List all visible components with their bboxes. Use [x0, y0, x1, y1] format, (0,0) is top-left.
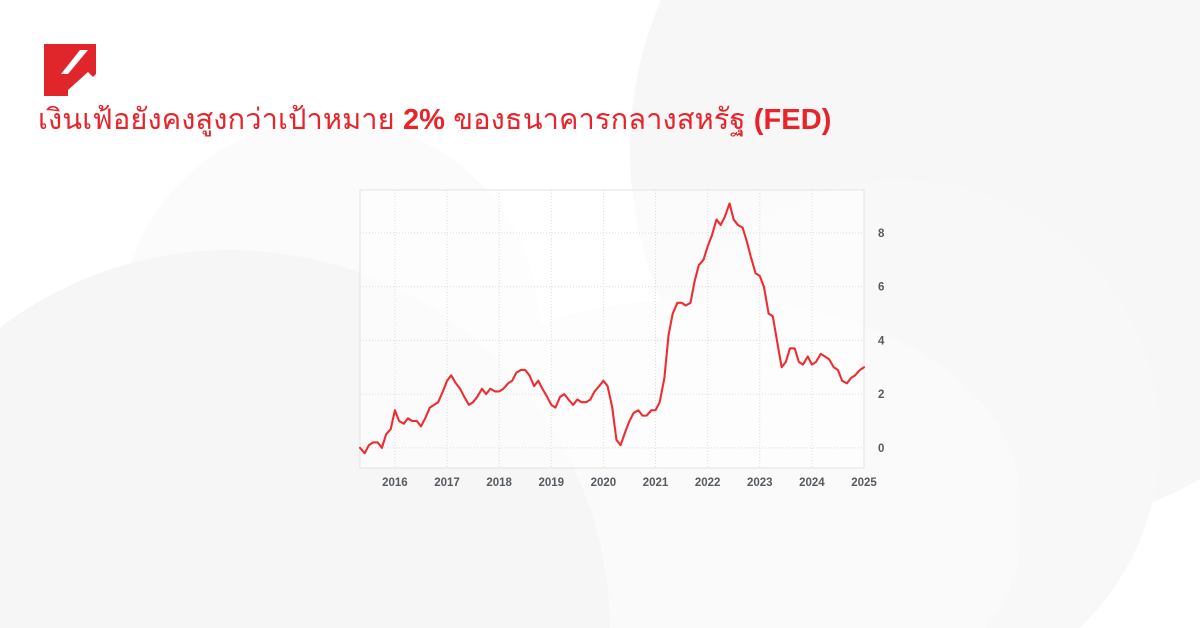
page-title: เงินเฟ้อยังคงสูงกว่าเป้าหมาย 2% ของธนาคา… — [38, 100, 1158, 140]
x-axis-tick-label: 2016 — [382, 477, 408, 489]
y-axis-tick-label: 0 — [878, 443, 884, 455]
y-axis-tick-label: 6 — [878, 282, 884, 294]
brand-logo — [44, 44, 96, 96]
page-content: เงินเฟ้อยังคงสูงกว่าเป้าหมาย 2% ของธนาคา… — [0, 0, 1200, 628]
x-axis-tick-label: 2024 — [799, 477, 825, 489]
x-axis-tick-label: 2023 — [747, 477, 773, 489]
y-axis-tick-label: 2 — [878, 389, 884, 401]
headline-highlight-2pct: 2% — [403, 104, 445, 136]
headline-part-1: เงินเฟ้อยังคงสูงกว่าเป้าหมาย — [38, 104, 403, 136]
x-axis-tick-label: 2025 — [851, 477, 877, 489]
x-axis-tick-label: 2019 — [538, 477, 564, 489]
chart-x-axis-labels: 2016201720182019202020212022202320242025 — [382, 477, 877, 489]
headline-part-2: ของธนาคารกลางสหรัฐ — [445, 104, 754, 136]
x-axis-tick-label: 2017 — [434, 477, 460, 489]
headline-suffix-fed: (FED) — [754, 104, 832, 136]
inflation-line-chart: 02468 2016201720182019202020212022202320… — [352, 186, 872, 496]
y-axis-tick-label: 8 — [878, 228, 885, 240]
y-axis-tick-label: 4 — [878, 335, 885, 347]
x-axis-tick-label: 2022 — [695, 477, 721, 489]
document-slash-logo-icon — [44, 44, 96, 96]
chart-svg: 02468 2016201720182019202020212022202320… — [352, 186, 872, 496]
chart-y-axis-labels: 02468 — [878, 228, 885, 455]
x-axis-tick-label: 2018 — [486, 477, 512, 489]
chart-plot-background — [360, 190, 864, 468]
x-axis-tick-label: 2021 — [643, 477, 669, 489]
x-axis-tick-label: 2020 — [591, 477, 617, 489]
